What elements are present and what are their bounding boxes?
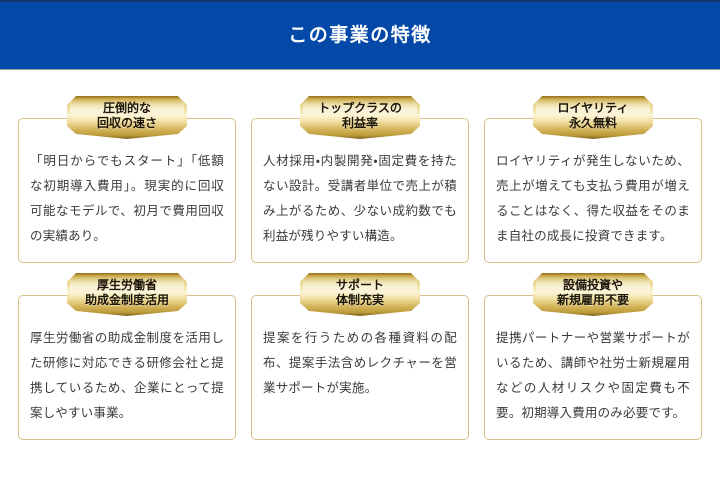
page-header-banner: この事業の特徴 <box>0 0 720 70</box>
feature-badge-line1: サポート <box>314 278 406 293</box>
feature-card-6: 設備投資や 新規雇用不要 提携パートナーや営業サポートがいるため、講師や社労士新… <box>484 295 702 440</box>
feature-card-body: 提案を行うための各種資料の配布、提案手法含めレクチャーを営業サポートが実施。 <box>263 326 457 401</box>
page-title: この事業の特徴 <box>288 26 432 45</box>
feature-badge-line2: 新規雇用不要 <box>547 293 639 308</box>
feature-badge-4: 厚生労働省 助成金制度活用 <box>67 273 187 316</box>
feature-badge-6: 設備投資や 新規雇用不要 <box>533 273 653 316</box>
feature-card-body: 厚生労働省の助成金制度を活用した研修に対応できる研修会社と提携しているため、企業… <box>30 326 224 426</box>
feature-card-body: 人材採用・内製開発・固定費を持たない設計。受講者単位で売上が積み上がるため、少な… <box>263 149 457 249</box>
feature-cards-grid: 圧倒的な 回収の速さ 「明日からでもスタート」「低額な初期導入費用」。現実的に回… <box>18 118 702 440</box>
feature-badge-line1: トップクラスの <box>314 101 406 116</box>
feature-badge-3: ロイヤリティ 永久無料 <box>533 96 653 139</box>
feature-badge-line1: 厚生労働省 <box>81 278 173 293</box>
feature-badge-line2: 助成金制度活用 <box>81 293 173 308</box>
feature-card-5: サポート 体制充実 提案を行うための各種資料の配布、提案手法含めレクチャーを営業… <box>251 295 469 440</box>
feature-card-1: 圧倒的な 回収の速さ 「明日からでもスタート」「低額な初期導入費用」。現実的に回… <box>18 118 236 263</box>
feature-badge-line2: 回収の速さ <box>81 116 173 131</box>
feature-badge-line2: 体制充実 <box>314 293 406 308</box>
feature-card-body: ロイヤリティが発生しないため、売上が増えても支払う費用が増えることはなく、得た収… <box>496 149 690 249</box>
feature-badge-1: 圧倒的な 回収の速さ <box>67 96 187 139</box>
feature-card-4: 厚生労働省 助成金制度活用 厚生労働省の助成金制度を活用した研修に対応できる研修… <box>18 295 236 440</box>
feature-badge-line2: 永久無料 <box>547 116 639 131</box>
feature-badge-line2: 利益率 <box>314 116 406 131</box>
feature-card-body: 提携パートナーや営業サポートがいるため、講師や社労士新規雇用などの人材リスクや固… <box>496 326 690 426</box>
feature-badge-line1: ロイヤリティ <box>547 101 639 116</box>
feature-badge-2: トップクラスの 利益率 <box>300 96 420 139</box>
feature-badge-5: サポート 体制充実 <box>300 273 420 316</box>
feature-card-body: 「明日からでもスタート」「低額な初期導入費用」。現実的に回収可能なモデルで、初月… <box>30 149 224 249</box>
feature-badge-line1: 圧倒的な <box>81 101 173 116</box>
feature-badge-line1: 設備投資や <box>547 278 639 293</box>
feature-card-3: ロイヤリティ 永久無料 ロイヤリティが発生しないため、売上が増えても支払う費用が… <box>484 118 702 263</box>
feature-card-2: トップクラスの 利益率 人材採用・内製開発・固定費を持たない設計。受講者単位で売… <box>251 118 469 263</box>
